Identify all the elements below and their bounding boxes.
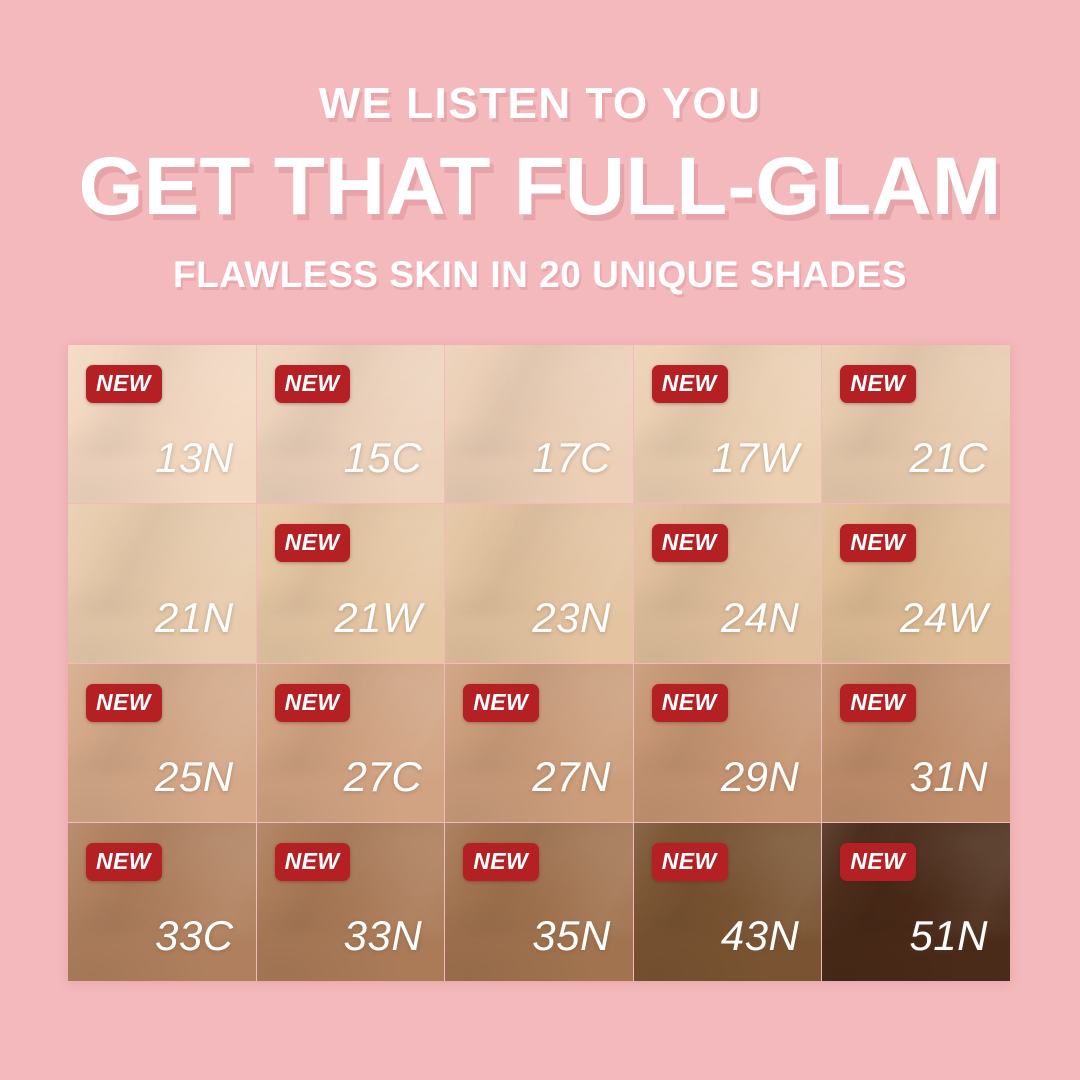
shade-code-label: 17C [532,437,611,479]
shade-swatch[interactable]: NEW27C [257,664,445,822]
shade-code-label: 31N [909,756,988,798]
shade-swatch[interactable]: NEW33C [68,823,256,981]
shade-swatch[interactable]: 21N [68,504,256,662]
shade-code-label: 21N [155,597,234,639]
new-badge: NEW [275,684,351,722]
shade-swatch[interactable]: NEW51N [822,823,1010,981]
shade-swatch[interactable]: NEW24W [822,504,1010,662]
new-badge: NEW [463,684,539,722]
new-badge: NEW [275,524,351,562]
new-badge: NEW [86,365,162,403]
new-badge: NEW [840,684,916,722]
shade-swatch[interactable]: NEW21C [822,345,1010,503]
shade-swatch[interactable]: NEW24N [634,504,822,662]
new-badge: NEW [463,843,539,881]
shade-code-label: 15C [344,437,423,479]
eyebrow-text: WE LISTEN TO YOU [0,82,1080,126]
new-badge: NEW [86,843,162,881]
shade-swatch[interactable]: NEW27N [445,664,633,822]
shade-code-label: 33C [155,915,234,957]
shade-code-label: 35N [532,915,611,957]
shade-code-label: 21W [334,597,422,639]
shade-swatch[interactable]: 23N [445,504,633,662]
promo-graphic: WE LISTEN TO YOU GET THAT FULL-GLAM FLAW… [0,0,1080,1080]
new-badge: NEW [652,524,728,562]
new-badge: NEW [840,843,916,881]
subtitle-text: FLAWLESS SKIN IN 20 UNIQUE SHADES [0,256,1080,293]
shade-code-label: 27C [344,756,423,798]
shade-code-label: 24N [721,597,800,639]
shade-code-label: 25N [155,756,234,798]
shade-swatch[interactable]: NEW21W [257,504,445,662]
shade-swatch[interactable]: NEW25N [68,664,256,822]
new-badge: NEW [652,365,728,403]
shade-grid: NEW13NNEW15C17CNEW17WNEW21C21NNEW21W23NN… [68,345,1010,981]
new-badge: NEW [652,843,728,881]
shade-code-label: 23N [532,597,611,639]
shade-swatch[interactable]: NEW17W [634,345,822,503]
shade-swatch[interactable]: NEW33N [257,823,445,981]
shade-swatch[interactable]: NEW35N [445,823,633,981]
new-badge: NEW [275,365,351,403]
shade-swatch[interactable]: NEW15C [257,345,445,503]
shade-swatch[interactable]: 17C [445,345,633,503]
shade-code-label: 29N [721,756,800,798]
shade-code-label: 51N [909,915,988,957]
shade-code-label: 43N [721,915,800,957]
shade-code-label: 21C [909,437,988,479]
new-badge: NEW [275,843,351,881]
new-badge: NEW [652,684,728,722]
shade-code-label: 17W [712,437,800,479]
shade-code-label: 24W [900,597,988,639]
new-badge: NEW [86,684,162,722]
new-badge: NEW [840,365,916,403]
shade-code-label: 27N [532,756,611,798]
shade-code-label: 13N [155,437,234,479]
shade-swatch[interactable]: NEW43N [634,823,822,981]
shade-swatch[interactable]: NEW13N [68,345,256,503]
shade-code-label: 33N [344,915,423,957]
shade-swatch[interactable]: NEW31N [822,664,1010,822]
header-block: WE LISTEN TO YOU GET THAT FULL-GLAM FLAW… [0,0,1080,293]
new-badge: NEW [840,524,916,562]
page-title: GET THAT FULL-GLAM [0,146,1080,228]
shade-swatch[interactable]: NEW29N [634,664,822,822]
